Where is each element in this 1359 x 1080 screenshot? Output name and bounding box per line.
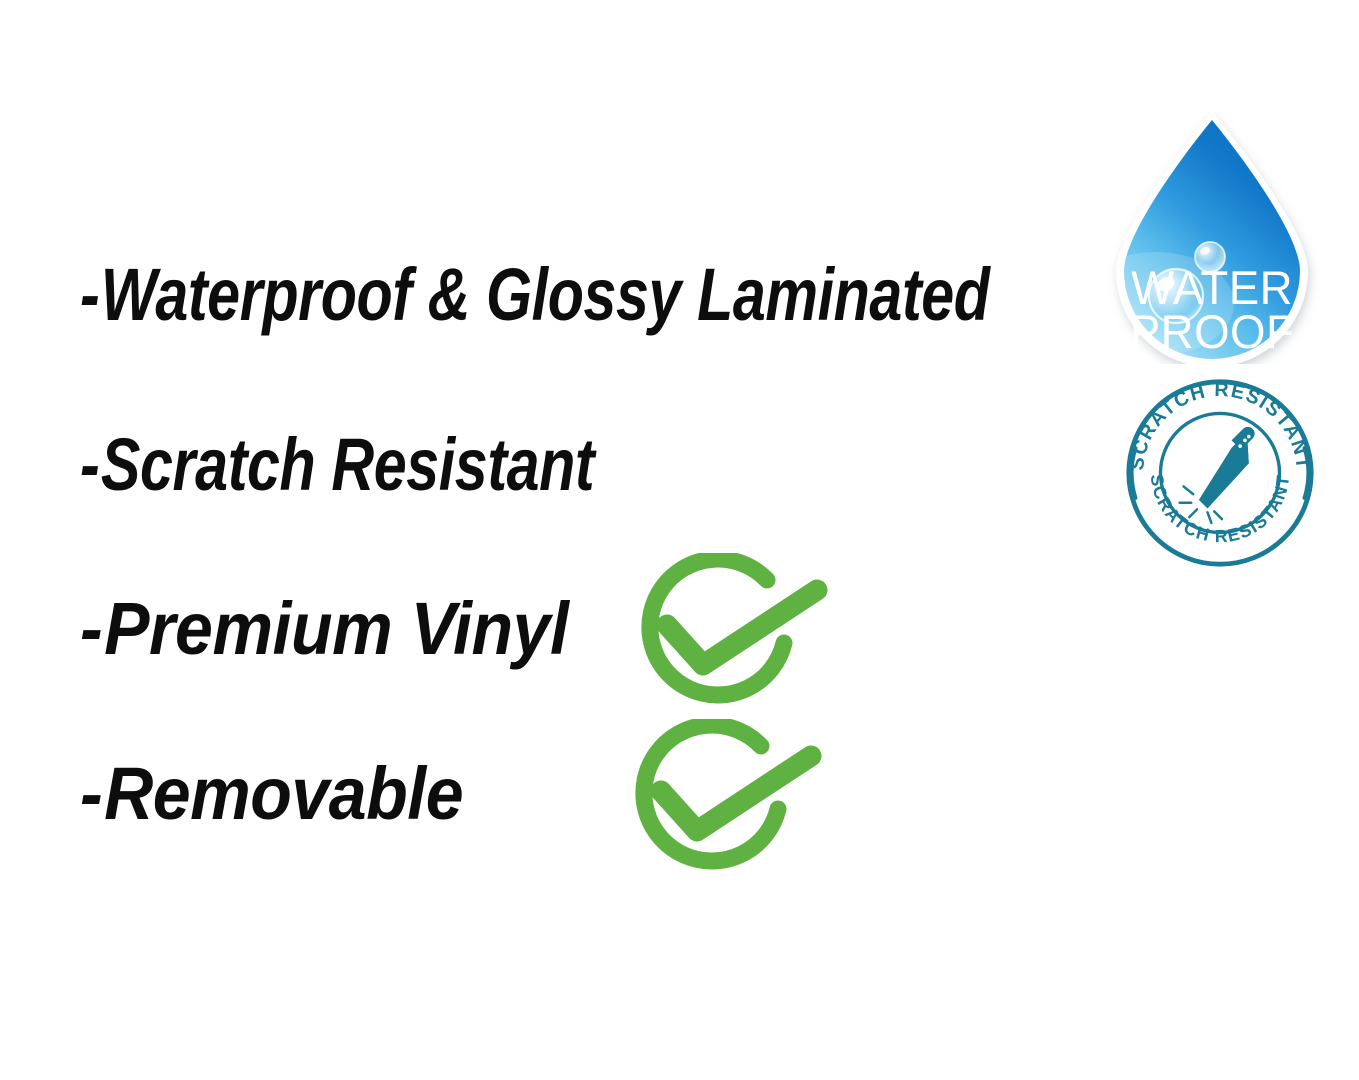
feature-item-waterproof-glossy-laminated: -Waterproof & Glossy Laminated — [80, 258, 990, 332]
feature-bullet-dash: - — [80, 428, 101, 502]
feature-bullet-dash: - — [80, 258, 101, 332]
feature-label: Scratch Resistant — [101, 423, 594, 506]
feature-item-scratch-resistant: -Scratch Resistant — [80, 428, 594, 502]
green-check-icon-2 — [634, 719, 829, 879]
feature-item-premium-vinyl: -Premium Vinyl — [80, 592, 569, 666]
green-check-icon-1 — [640, 553, 835, 713]
feature-label: Waterproof & Glossy Laminated — [101, 253, 990, 336]
check-tick — [667, 590, 817, 665]
badge-top-text: SCRATCH RESISTANT — [1126, 379, 1314, 471]
scratch-resistant-badge: SCRATCH RESISTANT SCRATCH RESISTANT — [1124, 377, 1316, 569]
waterproof-text-line-2: PROOF — [1130, 305, 1295, 358]
knife-icon — [1180, 427, 1255, 523]
feature-bullet-dash: - — [80, 757, 104, 831]
waterproof-badge: WATER PROOF — [1104, 108, 1320, 364]
feature-item-removable: -Removable — [80, 757, 463, 831]
feature-label: Removable — [104, 752, 463, 835]
check-tick — [661, 756, 811, 831]
product-feature-graphic: -Waterproof & Glossy Laminated -Scratch … — [0, 0, 1359, 1080]
feature-label: Premium Vinyl — [104, 587, 568, 670]
feature-bullet-dash: - — [80, 592, 104, 666]
